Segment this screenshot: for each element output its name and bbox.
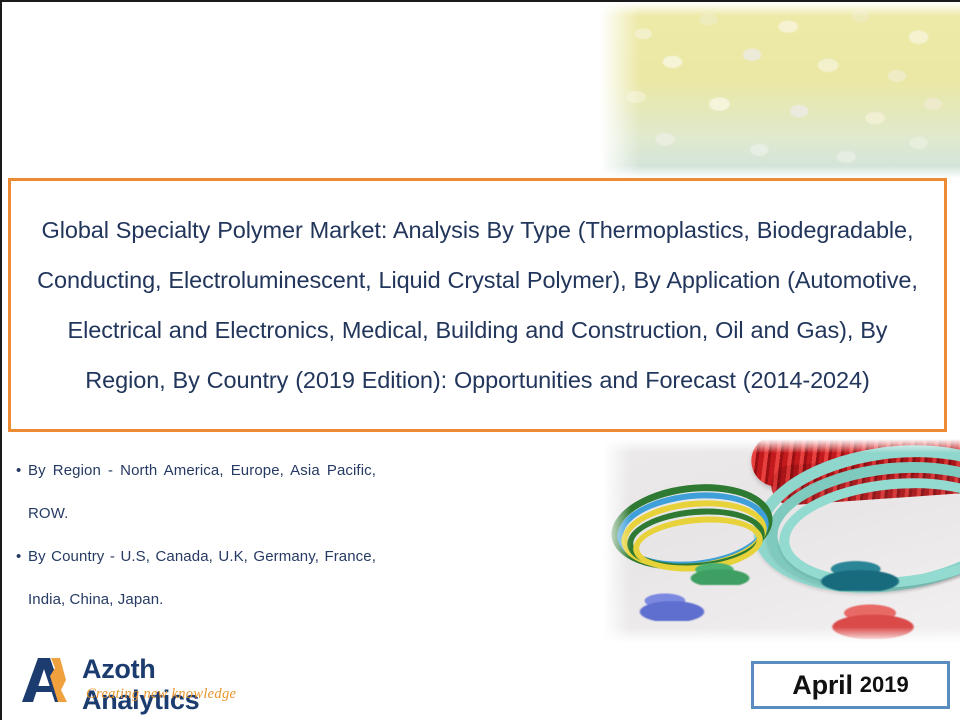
report-cover-slide: Global Specialty Polymer Market: Analysi… [0, 0, 960, 720]
scope-bullet-list: • By Region - North America, Europe, Asi… [16, 449, 376, 621]
azoth-a-logo-icon [20, 656, 74, 704]
brand-logo: Azoth Analytics Creating new knowledge [20, 654, 270, 710]
photo-bottom-fade-bottom [603, 627, 960, 643]
bullet-dot-icon: • [16, 449, 28, 492]
page-title: Global Specialty Polymer Market: Analysi… [11, 205, 944, 405]
bullet-country-text: By Country - U.S, Canada, U.K, Germany, … [28, 535, 376, 621]
photo-bottom-fade-left [603, 439, 631, 643]
teal-granule-pile [789, 547, 931, 591]
report-title-box: Global Specialty Polymer Market: Analysi… [8, 178, 947, 432]
yellow-polymer-pellets-photo [600, 2, 960, 178]
bullet-region-text: By Region - North America, Europe, Asia … [28, 449, 376, 535]
brand-tagline: Creating new knowledge [86, 686, 236, 703]
photo-top-fade-bottom [600, 166, 960, 178]
pellets-texture [600, 2, 960, 178]
photo-top-fade-top [600, 2, 960, 16]
list-item: • By Region - North America, Europe, Asi… [16, 449, 376, 535]
photo-bottom-fade-top [603, 439, 960, 453]
photo-top-fade-left [600, 2, 640, 178]
publication-date-box: April 2019 [751, 661, 950, 709]
colored-polymer-granules-and-cables-photo [603, 439, 960, 643]
list-item: • By Country - U.S, Canada, U.K, Germany… [16, 535, 376, 621]
publication-month: April [792, 670, 853, 701]
publication-year: 2019 [860, 672, 909, 698]
brand-name: Azoth Analytics [82, 654, 270, 716]
bullet-dot-icon: • [16, 535, 28, 578]
